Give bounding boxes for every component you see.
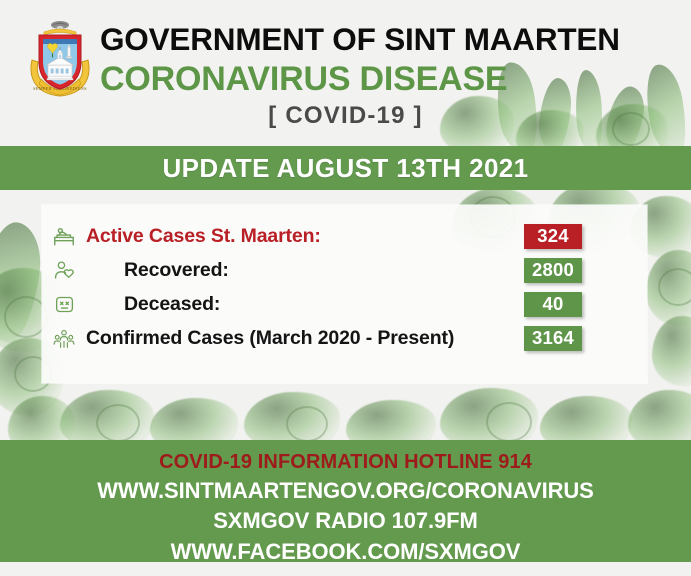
- sint-maarten-coat-of-arms-icon: SEMPER PROGREDIENS: [26, 16, 94, 102]
- deceased-face-icon: [42, 287, 86, 321]
- stat-label-confirmed-cases: Confirmed Cases (March 2020 - Present): [86, 327, 454, 350]
- update-date-text: UPDATE AUGUST 13TH 2021: [162, 153, 528, 184]
- stat-row-confirmed-cases: Confirmed Cases (March 2020 - Present) 3…: [42, 321, 647, 355]
- bottom-edge-strip: [0, 562, 691, 576]
- footer-website-link[interactable]: WWW.SINTMAARTENGOV.ORG/CORONAVIRUS: [97, 476, 594, 506]
- stat-row-deceased: Deceased: 40: [42, 287, 647, 321]
- footer-radio-text: SXMGOV RADIO 107.9FM: [213, 506, 478, 536]
- stat-value-deceased: 40: [524, 292, 582, 317]
- statistics-card: Active Cases St. Maarten: 324 Recovered:…: [42, 205, 647, 383]
- stat-label-active-cases: Active Cases St. Maarten:: [86, 225, 321, 248]
- stat-label-deceased: Deceased:: [124, 293, 220, 316]
- stat-label-recovered: Recovered:: [124, 259, 229, 282]
- stat-value-active-cases: 324: [524, 224, 582, 249]
- contact-footer: COVID-19 INFORMATION HOTLINE 914 WWW.SIN…: [0, 440, 691, 562]
- poster-header: SEMPER PROGREDIENS: [0, 0, 691, 143]
- person-heart-recovered-icon: [42, 253, 86, 287]
- hospital-bed-patient-icon: [42, 219, 86, 253]
- stat-value-recovered: 2800: [524, 258, 582, 283]
- statistics-row-list: Active Cases St. Maarten: 324 Recovered:…: [42, 219, 647, 355]
- update-date-banner: UPDATE AUGUST 13TH 2021: [0, 146, 691, 190]
- page-subtitle-covid19: [ COVID-19 ]: [0, 104, 691, 128]
- page-title-government: GOVERNMENT OF SINT MAARTEN: [100, 24, 660, 56]
- stat-row-active-cases: Active Cases St. Maarten: 324: [42, 219, 647, 253]
- group-of-people-icon: [42, 321, 86, 355]
- footer-hotline-text: COVID-19 INFORMATION HOTLINE 914: [159, 449, 532, 476]
- covid-update-poster: SEMPER PROGREDIENS: [0, 0, 691, 576]
- stat-row-recovered: Recovered: 2800: [42, 253, 647, 287]
- stat-value-confirmed-cases: 3164: [524, 326, 582, 351]
- page-title-coronavirus: CORONAVIRUS DISEASE: [100, 62, 670, 96]
